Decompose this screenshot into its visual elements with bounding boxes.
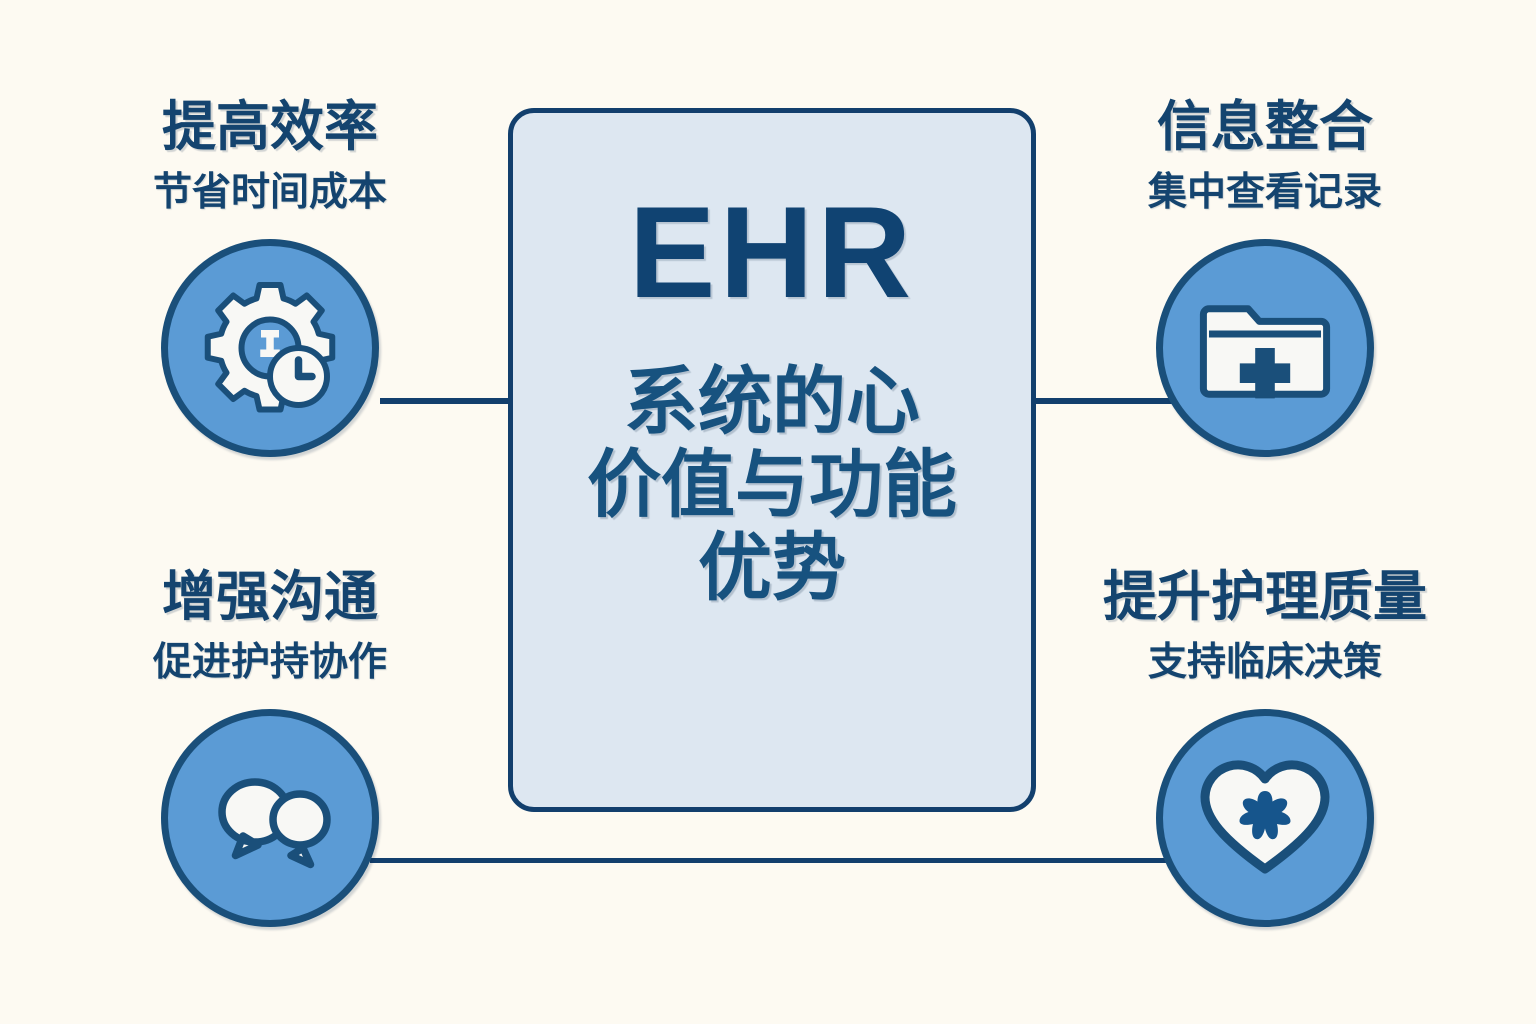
- node-integration-subtitle: 集中查看记录: [1148, 172, 1382, 215]
- node-efficiency[interactable]: 提高效率 节省时间成本: [55, 98, 485, 457]
- node-efficiency-title: 提高效率: [162, 98, 378, 156]
- gear-clock-icon: [195, 273, 345, 423]
- center-subtitle-line-1: 系统的心: [587, 361, 957, 444]
- node-communication-icon-circle[interactable]: [161, 709, 379, 927]
- node-quality-title: 提升护理质量: [1103, 568, 1427, 626]
- center-subtitle: 系统的心 价值与功能 优势: [587, 361, 957, 610]
- node-integration-icon-circle[interactable]: [1156, 239, 1374, 457]
- center-acronym: EHR: [629, 187, 915, 317]
- node-quality[interactable]: 提升护理质量 支持临床决策: [1050, 568, 1480, 927]
- center-subtitle-line-3: 优势: [587, 527, 957, 610]
- node-integration[interactable]: 信息整合 集中查看记录: [1050, 98, 1480, 457]
- node-communication-subtitle: 促进护持协作: [153, 642, 387, 685]
- chat-bubbles-icon: [195, 743, 345, 893]
- heart-star-icon: [1190, 743, 1340, 893]
- node-quality-subtitle: 支持临床决策: [1148, 642, 1382, 685]
- node-communication-title: 增强沟通: [162, 568, 378, 626]
- node-efficiency-icon-circle[interactable]: [161, 239, 379, 457]
- node-efficiency-subtitle: 节省时间成本: [153, 172, 387, 215]
- center-panel: EHR 系统的心 价值与功能 优势: [508, 108, 1036, 812]
- node-communication[interactable]: 增强沟通 促进护持协作: [55, 568, 485, 927]
- center-subtitle-line-2: 价值与功能: [587, 444, 957, 527]
- node-integration-title: 信息整合: [1157, 98, 1373, 156]
- node-quality-icon-circle[interactable]: [1156, 709, 1374, 927]
- diagram-canvas: EHR 系统的心 价值与功能 优势 提高效率 节省时间成本: [0, 0, 1536, 1024]
- medical-folder-icon: [1195, 278, 1335, 418]
